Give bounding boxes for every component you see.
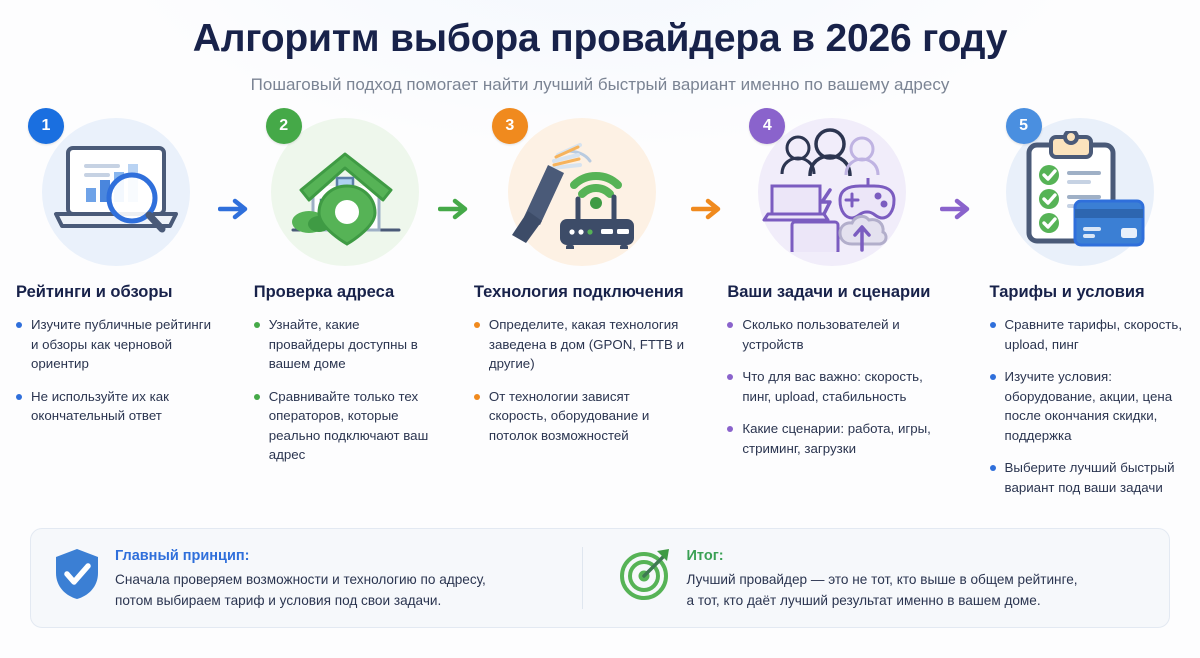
list-item: Узнайте, какие провайдеры доступны в ваш… <box>254 315 436 374</box>
infographic-root: Алгоритм выбора провайдера в 2026 году П… <box>0 0 1200 658</box>
principle-line-1: Сначала проверяем возможности и технолог… <box>115 569 486 590</box>
step-1-icon-area: 1 <box>16 112 216 272</box>
page-subtitle: Пошаговый подход помогает найти лучший б… <box>0 72 1200 98</box>
step-5-points: Сравните тарифы, скорость, upload, пинг … <box>976 315 1184 497</box>
step-5-title: Тарифы и условия <box>976 282 1184 303</box>
list-item: От технологии зависят скорость, оборудов… <box>474 387 689 446</box>
arrow-3-4 <box>691 112 725 510</box>
step-5-icon-area: 5 <box>976 112 1184 272</box>
step-2[interactable]: 2 Проверка адреса <box>254 112 436 510</box>
list-item: Выберите лучший быстрый вариант под ваши… <box>976 458 1184 497</box>
principle-label: Главный принцип: <box>115 546 486 566</box>
clipboard-checklist-card-icon <box>1013 131 1147 254</box>
laptop-chart-magnifier-icon <box>46 134 186 251</box>
list-item: Изучите условия: оборудование, акции, це… <box>976 367 1184 445</box>
result-cell: Итог: Лучший провайдер — это не тот, кто… <box>583 545 1148 611</box>
people-devices-icon <box>756 128 908 257</box>
step-2-points: Узнайте, какие провайдеры доступны в ваш… <box>254 315 436 465</box>
summary-panel: Главный принцип: Сначала проверяем возмо… <box>30 528 1170 628</box>
list-item: Сравните тарифы, скорость, upload, пинг <box>976 315 1184 354</box>
principle-cell: Главный принцип: Сначала проверяем возмо… <box>53 545 582 611</box>
step-4-icon-area: 4 <box>727 112 937 272</box>
step-1-title: Рейтинги и обзоры <box>16 282 216 303</box>
arrow-4-5 <box>940 112 974 510</box>
principle-line-2: потом выбираем тариф и условия под свои … <box>115 590 486 611</box>
step-2-badge: 2 <box>266 108 302 144</box>
step-4[interactable]: 4 <box>727 112 937 510</box>
page-title: Алгоритм выбора провайдера в 2026 году <box>0 14 1200 64</box>
steps-row: 1 Ре <box>0 98 1200 510</box>
header: Алгоритм выбора провайдера в 2026 году П… <box>0 0 1200 98</box>
step-3-icon-area: 3 <box>474 112 689 272</box>
house-location-pin-icon <box>279 134 411 251</box>
list-item: Какие сценарии: работа, игры, стриминг, … <box>727 419 937 458</box>
step-3-points: Определите, какая технология заведена в … <box>474 315 689 445</box>
fiber-cable-router-wifi-icon <box>502 131 662 254</box>
result-text: Итог: Лучший провайдер — это не тот, кто… <box>687 545 1078 611</box>
step-3-title: Технология подключения <box>474 282 689 303</box>
list-item: Сравнивайте только тех операторов, котор… <box>254 387 436 465</box>
step-2-icon-area: 2 <box>254 112 436 272</box>
result-line-2: а тот, кто даёт лучший результат именно … <box>687 590 1078 611</box>
arrow-2-3 <box>438 112 472 510</box>
principle-text: Главный принцип: Сначала проверяем возмо… <box>115 545 486 611</box>
step-1-points: Изучите публичные рейтинги и обзоры как … <box>16 315 216 426</box>
list-item: Сколько пользователей и устройств <box>727 315 937 354</box>
result-body: Лучший провайдер — это не тот, кто выше … <box>687 569 1078 611</box>
step-1[interactable]: 1 Ре <box>16 112 216 510</box>
principle-body: Сначала проверяем возможности и технолог… <box>115 569 486 611</box>
target-arrow-icon <box>619 545 673 606</box>
step-2-title: Проверка адреса <box>254 282 436 303</box>
step-5-badge: 5 <box>1006 108 1042 144</box>
result-line-1: Лучший провайдер — это не тот, кто выше … <box>687 569 1078 590</box>
shield-check-icon <box>53 545 101 606</box>
arrow-1-2 <box>218 112 252 510</box>
step-4-title: Ваши задачи и сценарии <box>727 282 937 303</box>
result-label: Итог: <box>687 546 1078 566</box>
list-item: Изучите публичные рейтинги и обзоры как … <box>16 315 216 374</box>
step-3-badge: 3 <box>492 108 528 144</box>
list-item: Не используйте их как окончательный отве… <box>16 387 216 426</box>
list-item: Что для вас важно: скорость, пинг, uploa… <box>727 367 937 406</box>
step-1-badge: 1 <box>28 108 64 144</box>
list-item: Определите, какая технология заведена в … <box>474 315 689 374</box>
step-4-points: Сколько пользователей и устройств Что дл… <box>727 315 937 458</box>
step-5[interactable]: 5 <box>976 112 1184 510</box>
step-3[interactable]: 3 <box>474 112 689 510</box>
